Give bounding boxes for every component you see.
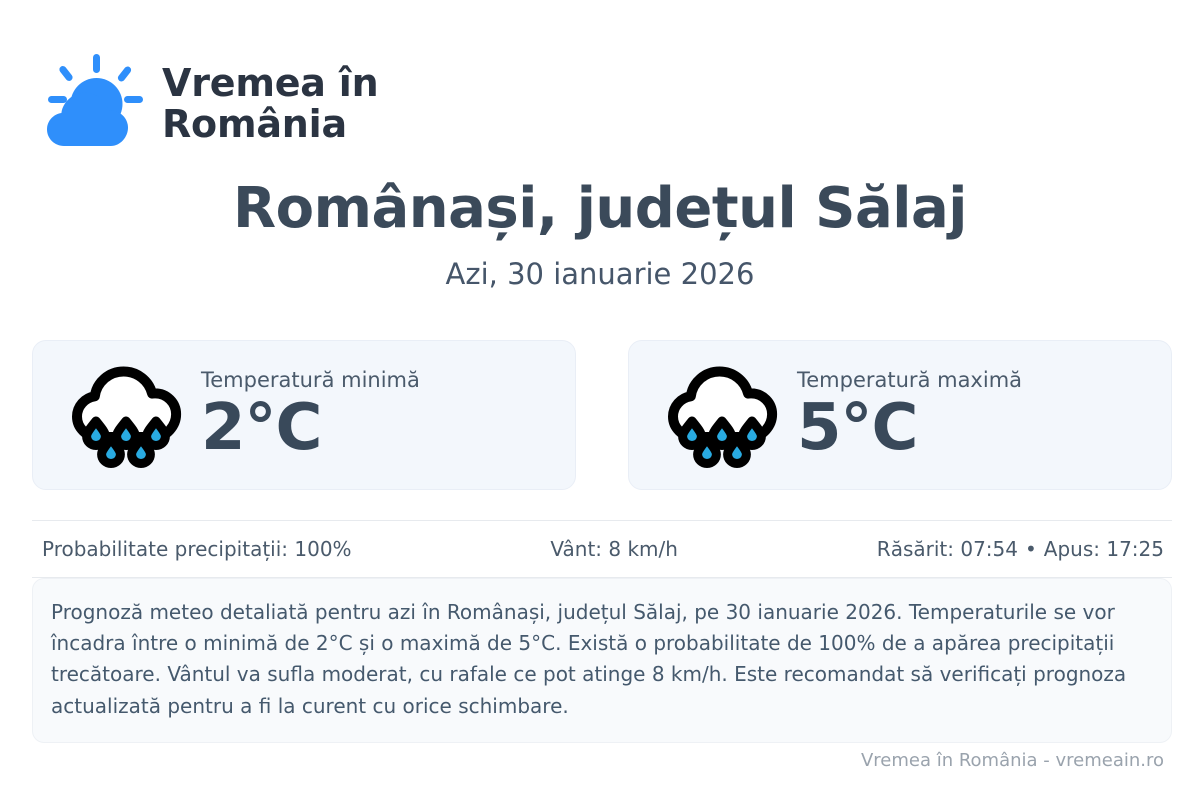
sun-times-stat: Răsărit: 07:54•Apus: 17:25: [877, 537, 1172, 561]
max-temperature-label: Temperatură maximă: [797, 368, 1022, 393]
precipitation-stat: Probabilitate precipitații: 100%: [32, 537, 352, 561]
page-title: Românași, județul Sălaj: [0, 178, 1200, 241]
min-temperature-label: Temperatură minimă: [201, 368, 420, 393]
rain-cloud-icon: [663, 359, 781, 471]
forecast-description-text: Prognoză meteo detaliată pentru azi în R…: [51, 597, 1143, 722]
rain-cloud-icon: [67, 359, 185, 471]
brand-logo[interactable]: Vremea în România: [36, 52, 378, 156]
min-temperature-text: Temperatură minimă 2°C: [201, 368, 420, 462]
sun-behind-cloud-icon: [36, 52, 144, 156]
max-temperature-value: 5°C: [797, 395, 1022, 462]
page-subtitle: Azi, 30 ianuarie 2026: [0, 257, 1200, 292]
weather-page: Vremea în România Românași, județul Săla…: [0, 0, 1200, 800]
min-temperature-value: 2°C: [201, 395, 420, 462]
wind-stat: Vânt: 8 km/h: [352, 537, 877, 561]
weather-stats-row: Probabilitate precipitații: 100% Vânt: 8…: [32, 520, 1172, 578]
sunrise-time: Răsărit: 07:54: [877, 537, 1018, 561]
brand-name: Vremea în România: [162, 63, 378, 145]
max-temperature-card: Temperatură maximă 5°C: [628, 340, 1172, 490]
stat-separator: •: [1018, 537, 1044, 561]
temperature-cards: Temperatură minimă 2°C Temper: [32, 340, 1172, 490]
min-temperature-card: Temperatură minimă 2°C: [32, 340, 576, 490]
forecast-description-box: Prognoză meteo detaliată pentru azi în R…: [32, 578, 1172, 743]
title-block: Românași, județul Sălaj Azi, 30 ianuarie…: [0, 178, 1200, 292]
site-footer: Vremea în România - vremeain.ro: [32, 750, 1172, 771]
max-temperature-text: Temperatură maximă 5°C: [797, 368, 1022, 462]
sunset-time: Apus: 17:25: [1044, 537, 1164, 561]
